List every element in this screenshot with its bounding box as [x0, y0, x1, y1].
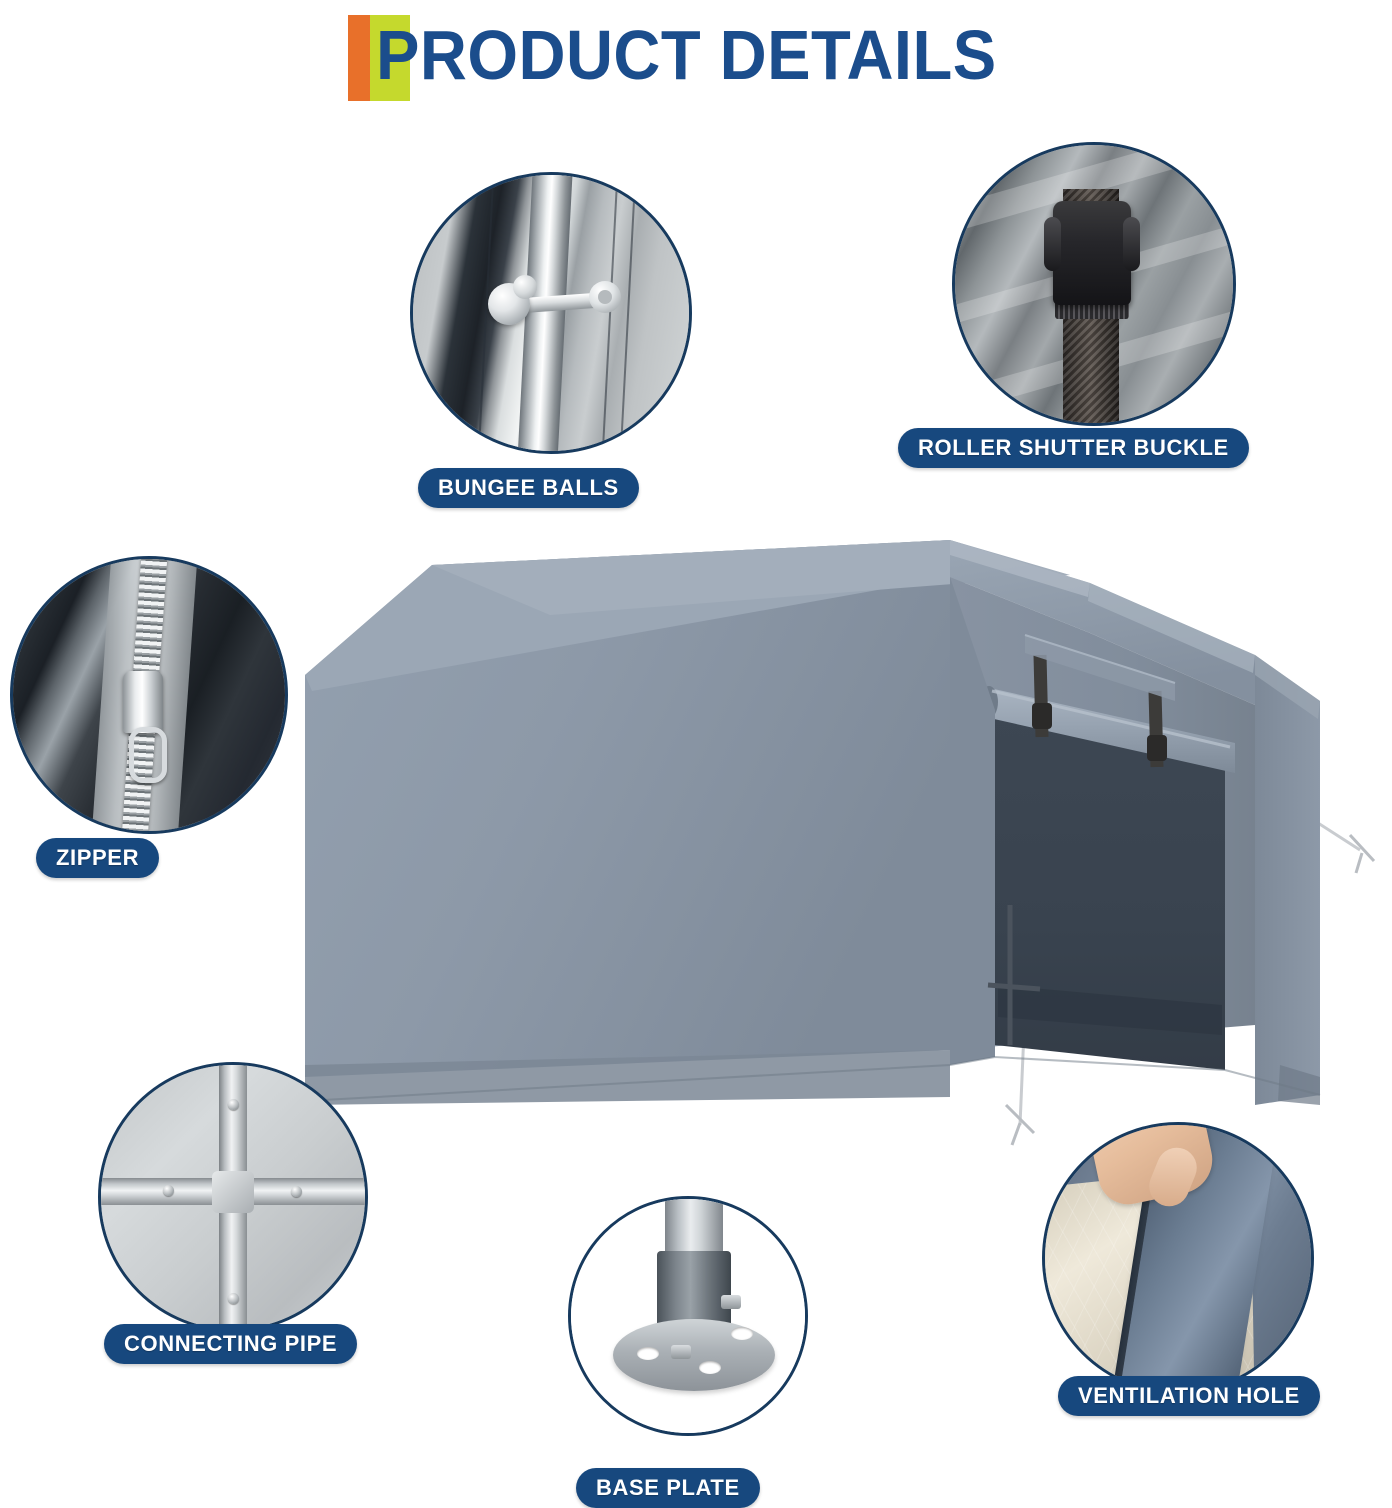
detail-photo-connecting-pipe [98, 1062, 368, 1332]
joint-screw [163, 1185, 174, 1196]
badge-base-plate: BASE PLATE [576, 1468, 760, 1508]
badge-connecting-pipe: CONNECTING PIPE [104, 1324, 357, 1364]
joint-screw [228, 1293, 239, 1304]
joint-screw [291, 1186, 302, 1197]
shed-side-panel [305, 540, 950, 1105]
shed-right-flap [1255, 655, 1320, 1105]
base-plate-photo-surface [571, 1199, 805, 1433]
accent-bar-orange [348, 15, 370, 101]
tarp-seam [601, 172, 619, 454]
anchor-hole [731, 1327, 753, 1340]
pipe-photo-surface [101, 1065, 365, 1329]
vent-photo-surface [1045, 1125, 1311, 1391]
page-header: PRODUCT DETAILS [0, 0, 1392, 110]
badge-zipper: ZIPPER [36, 838, 159, 878]
zipper-slider [123, 671, 163, 733]
buckle-photo-surface [955, 145, 1233, 423]
zipper-photo-surface [13, 559, 285, 831]
bungee-ball-secondary [513, 275, 537, 299]
detail-photo-ventilation-hole [1042, 1122, 1314, 1394]
page-title: PRODUCT DETAILS [376, 20, 997, 90]
detail-photo-zipper [10, 556, 288, 834]
locking-bolt [721, 1295, 741, 1309]
tarp-seam [619, 172, 637, 454]
detail-photo-bungee-balls [410, 172, 692, 454]
detail-photo-roller-shutter-buckle [952, 142, 1236, 426]
detail-photo-base-plate [568, 1196, 808, 1436]
product-shed-image [250, 505, 1380, 1165]
badge-roller-shutter-buckle: ROLLER SHUTTER BUCKLE [898, 428, 1249, 468]
anchor-hole [637, 1347, 659, 1360]
joint-screw [228, 1099, 239, 1110]
badge-bungee-balls: BUNGEE BALLS [418, 468, 639, 508]
title-wrap: PRODUCT DETAILS [348, 7, 1043, 103]
bungee-cord-loop [589, 281, 621, 313]
bungee-photo-surface [413, 175, 689, 451]
zipper-pull-tab [129, 727, 167, 783]
badge-ventilation-hole: VENTILATION HOLE [1058, 1376, 1320, 1416]
locking-bolt [671, 1345, 691, 1359]
cross-joint-hub [212, 1171, 254, 1213]
anchor-hole [699, 1361, 721, 1374]
side-release-buckle [1053, 201, 1131, 305]
shed-doorway [995, 710, 1225, 1070]
